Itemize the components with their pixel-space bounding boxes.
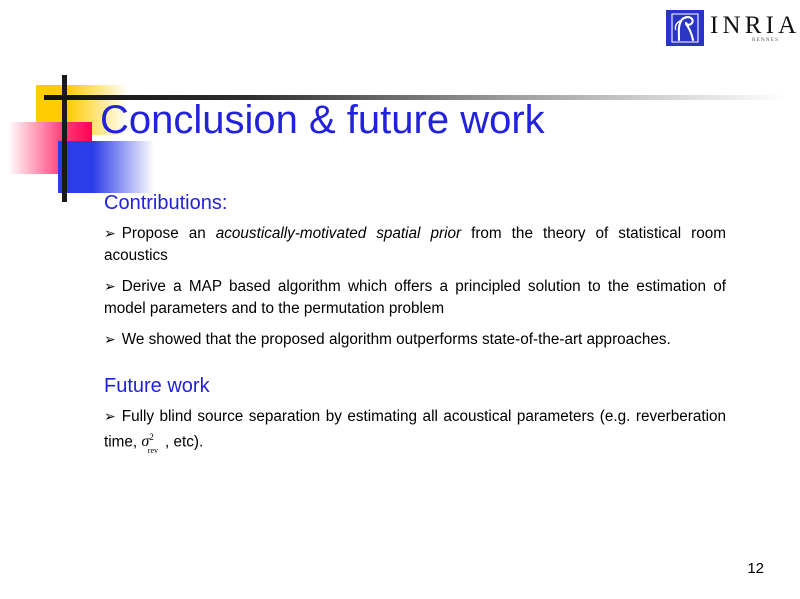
- presentation-slide: INRIA RENNES Conclusion & future work Co…: [0, 0, 800, 599]
- bullet-arrow-icon: ➢: [104, 408, 122, 424]
- page-number: 12: [747, 560, 764, 577]
- inria-wordmark: INRIA: [710, 12, 800, 40]
- math-superscript: 2: [149, 432, 154, 442]
- math-subscript: rev: [148, 446, 158, 455]
- bullet-item: ➢We showed that the proposed algorithm o…: [104, 329, 726, 351]
- page-title: Conclusion & future work: [100, 96, 720, 144]
- inria-bird-mark-icon: [666, 10, 704, 46]
- bullet-text: We showed that the proposed algorithm ou…: [122, 331, 671, 348]
- bullet-item: ➢Fully blind source separation by estima…: [104, 406, 726, 460]
- bullet-text: , etc).: [165, 433, 203, 450]
- inria-subtitle: RENNES: [752, 38, 779, 43]
- bullet-arrow-icon: ➢: [104, 225, 122, 241]
- section-heading: Future work: [104, 373, 726, 399]
- bullet-arrow-icon: ➢: [104, 331, 122, 347]
- bullet-item: ➢Propose an acoustically-motivated spati…: [104, 223, 726, 266]
- bullet-text: Propose an: [122, 225, 216, 242]
- bullet-text: Derive a MAP based algorithm which offer…: [104, 278, 726, 317]
- bullet-item: ➢Derive a MAP based algorithm which offe…: [104, 276, 726, 319]
- bullet-arrow-icon: ➢: [104, 278, 122, 294]
- math-variable-sigma-rev: σ2rev: [141, 433, 165, 450]
- section-heading: Contributions:: [104, 190, 726, 216]
- inria-logo: INRIA RENNES: [666, 10, 790, 46]
- slide-body: Contributions:➢Propose an acoustically-m…: [104, 190, 726, 469]
- decor-square-blue: [58, 141, 154, 193]
- bullet-emphasis-text: acoustically-motivated spatial prior: [216, 225, 461, 242]
